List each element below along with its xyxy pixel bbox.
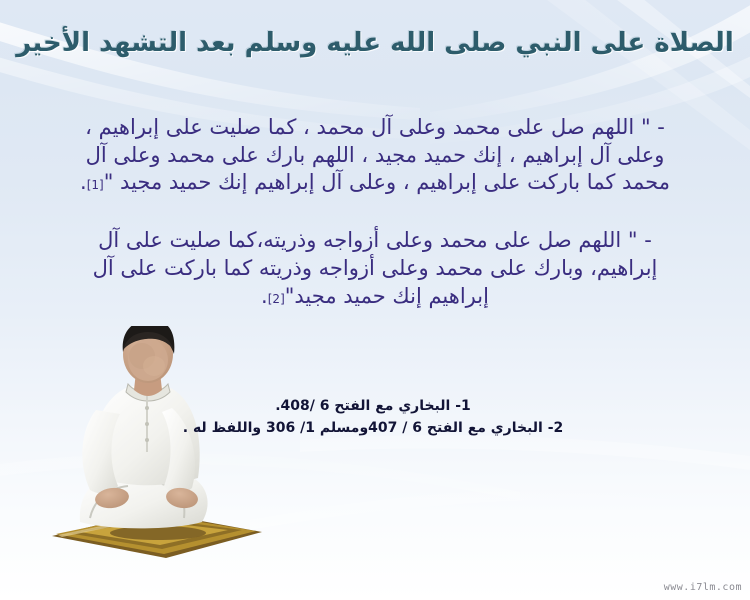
paragraph-1-text: - " اللهم صل على محمد وعلى آل محمد ، كما… (85, 115, 670, 194)
footnote-ref-1[interactable]: [1] (87, 178, 104, 192)
slide-canvas: الصلاة على النبي صلى الله عليه وسلم بعد … (0, 0, 750, 600)
body-text-block: - " اللهم صل على محمد وعلى آل محمد ، كما… (70, 114, 680, 310)
slide-title: الصلاة على النبي صلى الله عليه وسلم بعد … (16, 28, 734, 58)
footnotes-block: 1- البخاري مع الفتح 6 /408. 2- البخاري م… (28, 396, 718, 439)
paragraph-2-tail: . (261, 284, 268, 308)
site-watermark: www.i7lm.com (664, 582, 742, 593)
paragraph-1-tail: . (80, 170, 87, 194)
swoosh-upper-left (0, 10, 420, 120)
paragraph-2-text: - " اللهم صل على محمد وعلى أزواجه وذريته… (93, 228, 658, 307)
praying-man-figure (34, 326, 274, 566)
footnote-line-1: 1- البخاري مع الفتح 6 /408. (28, 396, 718, 418)
footnote-ref-2[interactable]: [2] (268, 292, 285, 306)
swoosh-lower-right (250, 488, 750, 530)
footnote-line-2: 2- البخاري مع الفتح 6 / 407ومسلم 1/ 306 … (28, 418, 718, 440)
paragraph-1: - " اللهم صل على محمد وعلى آل محمد ، كما… (70, 114, 680, 197)
swoosh-upper-right (430, 0, 750, 124)
slide-title-band: الصلاة على النبي صلى الله عليه وسلم بعد … (0, 28, 750, 58)
paragraph-2: - " اللهم صل على محمد وعلى أزواجه وذريته… (70, 227, 680, 310)
